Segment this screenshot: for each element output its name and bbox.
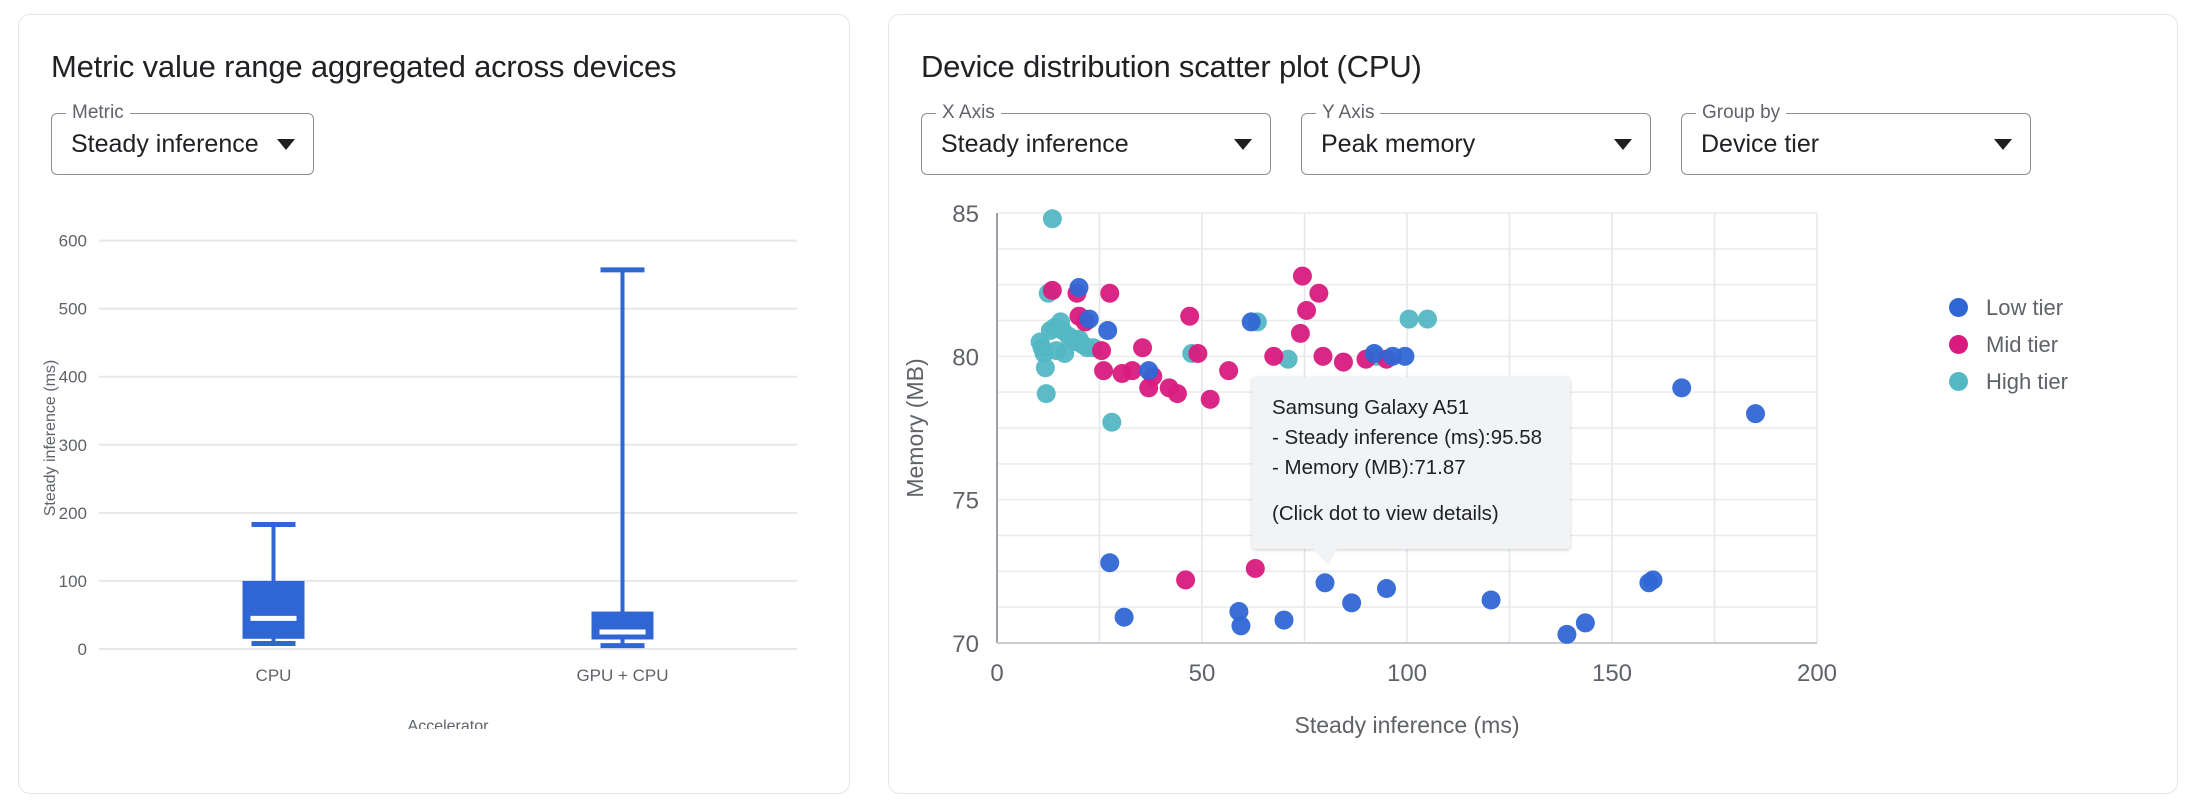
legend-item[interactable]: High tier [1949,363,2068,400]
legend-item[interactable]: Mid tier [1949,326,2068,363]
scatter-chart: 70758085050100150200Memory (MB)Steady in… [897,193,2177,758]
scatter-point-high-tier[interactable] [1400,310,1419,329]
scatter-point-high-tier[interactable] [1418,310,1437,329]
tooltip-metric-line: - Steady inference (ms):95.58 [1272,423,1552,453]
scatter-point-low-tier[interactable] [1557,625,1576,644]
legend-item[interactable]: Low tier [1949,289,2068,326]
scatter-point-mid-tier[interactable] [1176,570,1195,589]
scatter-y-tick-label: 85 [952,201,979,228]
scatter-point-mid-tier[interactable] [1219,361,1238,380]
x-axis-select[interactable]: X Axis Steady inference [921,113,1271,175]
scatter-point-low-tier[interactable] [1231,616,1250,635]
scatter-point-low-tier[interactable] [1139,361,1158,380]
scatter-point-low-tier[interactable] [1100,553,1119,572]
scatter-point-high-tier[interactable] [1043,209,1062,228]
metric-select[interactable]: Metric Steady inference [51,113,314,175]
scatter-point-mid-tier[interactable] [1293,267,1312,286]
scatter-point-low-tier[interactable] [1115,608,1134,627]
boxplot-card: Metric value range aggregated across dev… [18,14,850,794]
boxplot-y-tick-label: 300 [59,436,87,455]
scatter-point-mid-tier[interactable] [1313,347,1332,366]
scatter-point-mid-tier[interactable] [1133,338,1152,357]
scatter-point-mid-tier[interactable] [1168,384,1187,403]
legend-color-dot-icon [1949,335,1968,354]
boxplot-y-tick-label: 100 [59,572,87,591]
scatter-point-high-tier[interactable] [1102,413,1121,432]
scatter-point-high-tier[interactable] [1055,344,1074,363]
group-by-select-label: Group by [1696,103,1786,123]
boxplot-y-tick-label: 0 [78,640,87,659]
scatter-point-high-tier[interactable] [1037,384,1056,403]
x-axis-select-value: Steady inference [941,130,1216,159]
scatter-point-low-tier[interactable] [1080,310,1099,329]
y-axis-select-box[interactable]: Y Axis Peak memory [1301,113,1651,175]
scatter-point-low-tier[interactable] [1377,579,1396,598]
boxplot-x-axis-label: Accelerator [408,718,490,729]
scatter-point-mid-tier[interactable] [1297,301,1316,320]
scatter-point-low-tier[interactable] [1672,378,1691,397]
scatter-legend: Low tierMid tierHigh tier [1949,289,2068,400]
scatter-y-tick-label: 70 [952,631,979,658]
boxplot-x-tick-label: CPU [256,666,292,685]
chevron-down-icon[interactable] [1614,139,1632,150]
group-by-select-value: Device tier [1701,130,1976,159]
y-axis-select-value: Peak memory [1321,130,1596,159]
scatter-point-low-tier[interactable] [1395,347,1414,366]
dashboard-root: Metric value range aggregated across dev… [0,0,2200,808]
scatter-point-low-tier[interactable] [1482,591,1501,610]
scatter-card-title: Device distribution scatter plot (CPU) [889,15,2177,85]
scatter-point-mid-tier[interactable] [1334,353,1353,372]
scatter-card: Device distribution scatter plot (CPU) X… [888,14,2178,794]
scatter-point-low-tier[interactable] [1365,344,1384,363]
scatter-x-tick-label: 200 [1797,660,1837,687]
scatter-y-axis-label: Memory (MB) [902,358,928,497]
metric-select-box[interactable]: Metric Steady inference [51,113,314,175]
scatter-x-tick-label: 0 [990,660,1003,687]
scatter-point-low-tier[interactable] [1644,570,1663,589]
scatter-y-tick-label: 80 [952,344,979,371]
chevron-down-icon[interactable] [277,139,295,150]
scatter-point-mid-tier[interactable] [1094,361,1113,380]
scatter-point-mid-tier[interactable] [1092,341,1111,360]
metric-select-label: Metric [66,103,130,123]
metric-select-value: Steady inference [71,130,259,159]
scatter-point-low-tier[interactable] [1242,312,1261,331]
chevron-down-icon[interactable] [1994,139,2012,150]
x-axis-select-label: X Axis [936,103,1001,123]
y-axis-select-label: Y Axis [1316,103,1380,123]
scatter-tooltip: Samsung Galaxy A51 - Steady inference (m… [1252,377,1570,549]
boxplot-y-tick-label: 200 [59,504,87,523]
x-axis-select-box[interactable]: X Axis Steady inference [921,113,1271,175]
scatter-point-mid-tier[interactable] [1180,307,1199,326]
boxplot-y-tick-label: 600 [59,232,87,251]
legend-item-label: Mid tier [1986,332,2058,358]
scatter-point-mid-tier[interactable] [1188,344,1207,363]
scatter-point-mid-tier[interactable] [1246,559,1265,578]
boxplot-box[interactable] [592,612,654,640]
scatter-x-axis-label: Steady inference (ms) [1295,712,1520,738]
scatter-point-low-tier[interactable] [1275,611,1294,630]
scatter-x-tick-label: 50 [1189,660,1216,687]
scatter-point-mid-tier[interactable] [1043,281,1062,300]
scatter-x-tick-label: 100 [1387,660,1427,687]
scatter-point-mid-tier[interactable] [1264,347,1283,366]
tooltip-device-name: Samsung Galaxy A51 [1272,393,1552,423]
scatter-point-low-tier[interactable] [1576,613,1595,632]
tooltip-hint: (Click dot to view details) [1272,499,1552,529]
boxplot-x-tick-label: GPU + CPU [576,666,668,685]
scatter-point-mid-tier[interactable] [1291,324,1310,343]
legend-color-dot-icon [1949,298,1968,317]
scatter-point-low-tier[interactable] [1746,404,1765,423]
group-by-select-box[interactable]: Group by Device tier [1681,113,2031,175]
legend-item-label: High tier [1986,369,2068,395]
legend-item-label: Low tier [1986,295,2063,321]
scatter-point-mid-tier[interactable] [1139,378,1158,397]
scatter-point-low-tier[interactable] [1316,573,1335,592]
boxplot-chart: 0100200300400500600Steady inference (ms)… [37,209,849,734]
boxplot-y-axis-label: Steady inference (ms) [42,360,59,517]
tooltip-memory-line: - Memory (MB):71.87 [1272,453,1552,483]
scatter-controls: X Axis Steady inference Y Axis Peak memo… [889,85,2177,175]
scatter-point-low-tier[interactable] [1342,593,1361,612]
scatter-point-mid-tier[interactable] [1100,284,1119,303]
scatter-point-mid-tier[interactable] [1123,361,1142,380]
legend-color-dot-icon [1949,372,1968,391]
boxplot-box[interactable] [243,581,305,639]
boxplot-svg: 0100200300400500600Steady inference (ms)… [37,209,827,729]
boxplot-y-tick-label: 400 [59,368,87,387]
boxplot-y-tick-label: 500 [59,300,87,319]
scatter-x-tick-label: 150 [1592,660,1632,687]
group-by-select[interactable]: Group by Device tier [1681,113,2031,175]
scatter-point-mid-tier[interactable] [1309,284,1328,303]
tooltip-spacer [1272,483,1552,499]
y-axis-select[interactable]: Y Axis Peak memory [1301,113,1651,175]
scatter-point-high-tier[interactable] [1036,358,1055,377]
scatter-y-tick-label: 75 [952,488,979,515]
chevron-down-icon[interactable] [1234,139,1252,150]
scatter-point-mid-tier[interactable] [1201,390,1220,409]
scatter-point-high-tier[interactable] [1070,330,1089,349]
scatter-point-low-tier[interactable] [1070,278,1089,297]
boxplot-card-title: Metric value range aggregated across dev… [19,15,849,85]
tooltip-pointer [1312,548,1338,565]
scatter-point-low-tier[interactable] [1098,321,1117,340]
